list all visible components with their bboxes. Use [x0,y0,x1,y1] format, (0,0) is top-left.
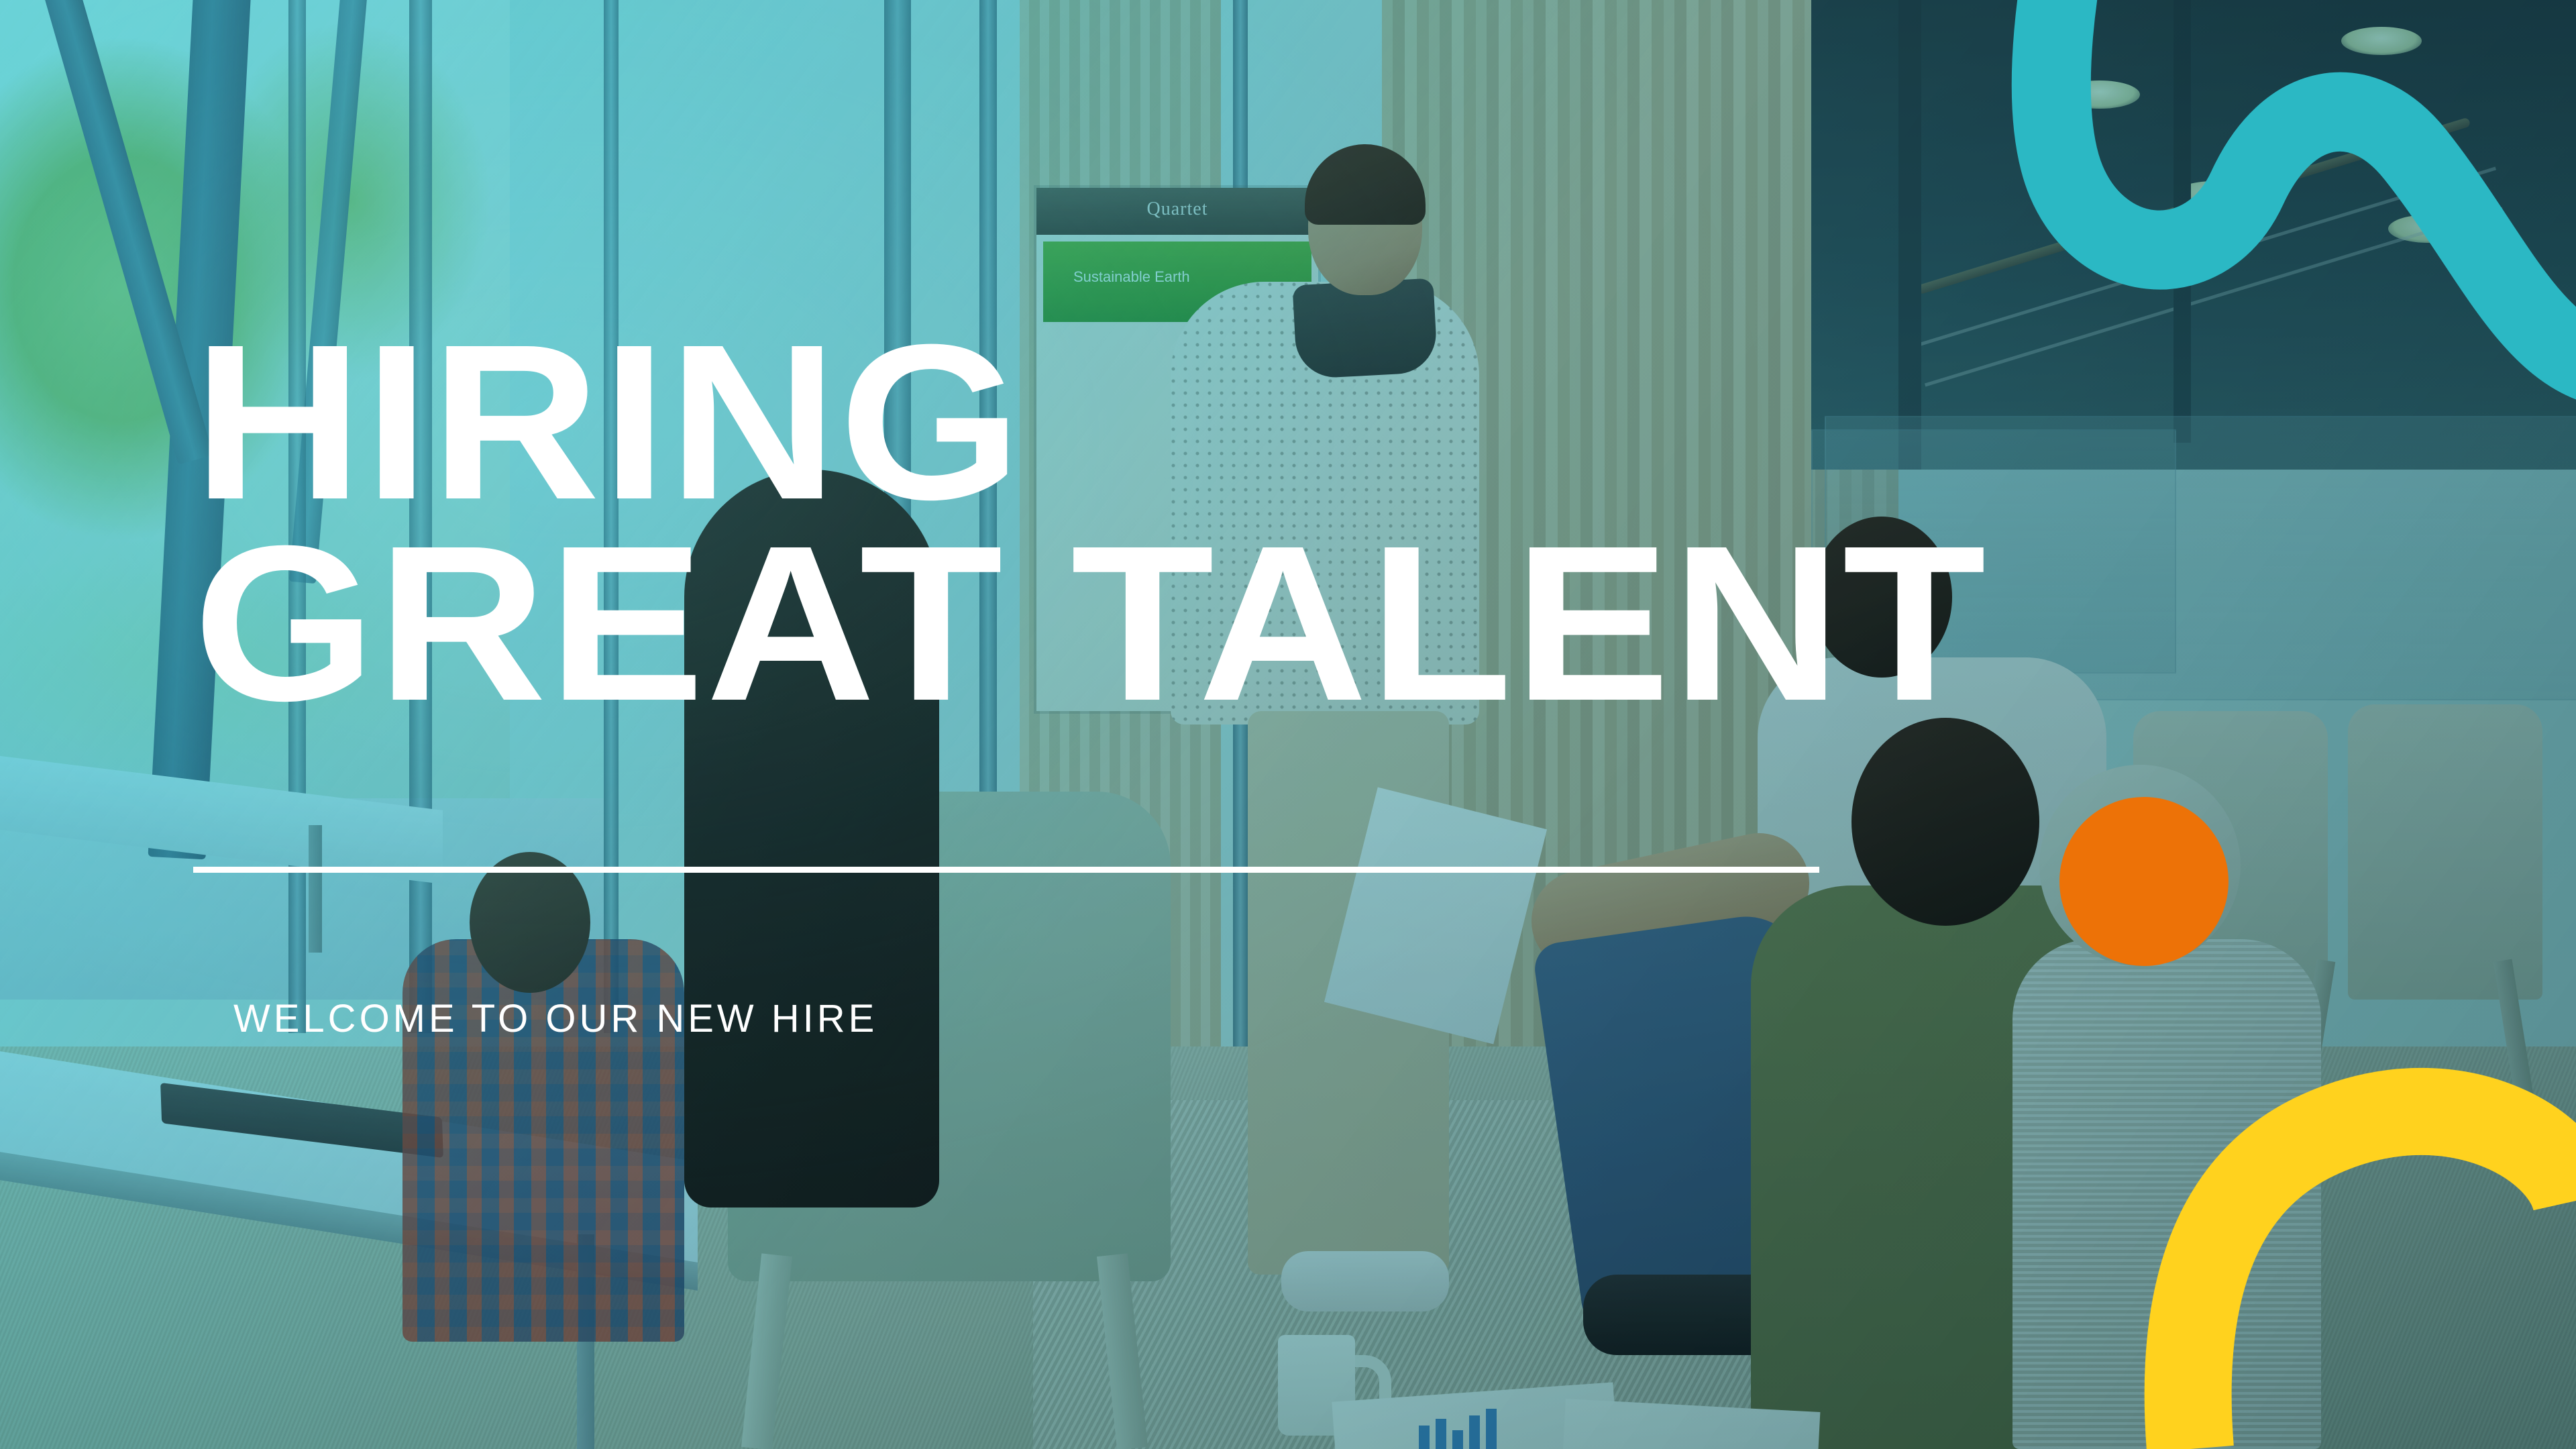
poster-canvas: Quartet Sustainable Earth [0,0,2576,1449]
yellow-arc-shape [2100,1033,2576,1449]
teal-squiggle-shape [1986,0,2576,402]
orange-circle-shape [2059,797,2229,966]
